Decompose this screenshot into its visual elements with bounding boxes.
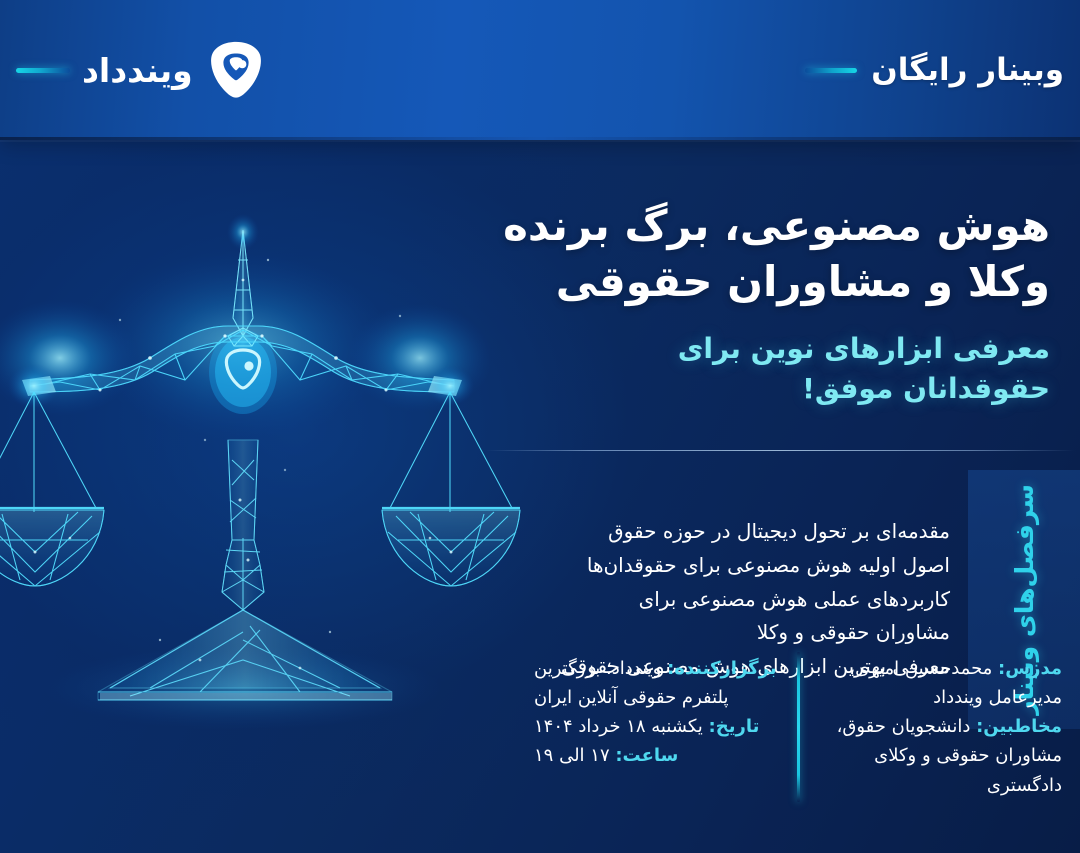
- info-key: مخاطبین:: [976, 716, 1062, 737]
- info-key: برگزارکننده:: [667, 658, 777, 679]
- scales-of-justice-illustration: [0, 140, 560, 853]
- brand-name: ویندداد: [82, 54, 193, 87]
- footer-info: مدرس: محمدحسین امیری، مدیرعامل ویندداد م…: [520, 652, 1076, 802]
- brand-block: ویندداد: [16, 39, 267, 101]
- info-line: مدرس: محمدحسین امیری،: [814, 654, 1063, 683]
- footer-column-speaker: مدرس: محمدحسین امیری، مدیرعامل ویندداد م…: [800, 652, 1077, 802]
- header-accent-dash: [805, 68, 857, 73]
- title-line-2: وکلا و مشاوران حقوقی: [480, 254, 1050, 310]
- title-line-1: هوش مصنوعی، برگ برنده: [480, 198, 1050, 254]
- footer-vertical-divider: [797, 652, 800, 802]
- info-value: مشاوران حقوقی و وکلای دادگستری: [874, 745, 1062, 795]
- info-line: مخاطبین: دانشجویان حقوق،: [814, 712, 1063, 741]
- info-line: ساعت: ۱۷ الی ۱۹: [534, 741, 783, 770]
- info-value: پلتفرم حقوقی آنلاین ایران: [534, 687, 729, 708]
- info-value: محمدحسین امیری،: [849, 658, 998, 679]
- info-value: ۱۷ الی ۱۹: [534, 745, 615, 766]
- header-bar: ویندداد وبینار رایگان: [0, 0, 1080, 140]
- content-panel: هوش مصنوعی، برگ برنده وکلا و مشاوران حقو…: [480, 140, 1080, 853]
- page-subtitle: معرفی ابزارهای نوین برای حقوقدانان موفق!: [480, 329, 1050, 410]
- page-title: هوش مصنوعی، برگ برنده وکلا و مشاوران حقو…: [480, 198, 1050, 311]
- info-value: ویندداد؛ بزرگترین: [534, 658, 667, 679]
- info-value: مدیرعامل ویندداد: [933, 687, 1062, 708]
- info-line: پلتفرم حقوقی آنلاین ایران: [534, 683, 783, 712]
- list-item: کاربردهای عملی هوش مصنوعی برای: [532, 584, 950, 616]
- info-value: دانشجویان حقوق،: [837, 716, 976, 737]
- free-webinar-tag: وبینار رایگان: [871, 52, 1064, 88]
- info-line: مشاوران حقوقی و وکلای دادگستری: [814, 741, 1063, 799]
- subtitle-line-2: حقوقدانان موفق!: [480, 369, 1050, 410]
- vinddad-shield-logo-icon: [205, 39, 267, 101]
- header-tag-block: وبینار رایگان: [805, 52, 1064, 88]
- info-key: ساعت:: [615, 745, 678, 766]
- footer-column-event: برگزارکننده: ویندداد؛ بزرگترین پلتفرم حق…: [520, 652, 797, 773]
- subtitle-line-1: معرفی ابزارهای نوین برای: [480, 329, 1050, 370]
- list-item: اصول اولیه هوش مصنوعی برای حقوقدان‌ها: [532, 550, 950, 582]
- info-line: برگزارکننده: ویندداد؛ بزرگترین: [534, 654, 783, 683]
- info-value: یکشنبه ۱۸ خرداد ۱۴۰۴: [534, 716, 709, 737]
- section-divider: [486, 450, 1074, 451]
- list-item: مشاوران حقوقی و وکلا: [532, 617, 950, 649]
- info-key: مدرس:: [998, 658, 1062, 679]
- list-item: مقدمه‌ای بر تحول دیجیتال در حوزه حقوق: [532, 516, 950, 548]
- info-line: مدیرعامل ویندداد: [814, 683, 1063, 712]
- webinar-poster: ویندداد وبینار رایگان: [0, 0, 1080, 853]
- info-line: تاریخ: یکشنبه ۱۸ خرداد ۱۴۰۴: [534, 712, 783, 741]
- brand-accent-dash: [16, 68, 70, 73]
- info-key: تاریخ:: [709, 716, 760, 737]
